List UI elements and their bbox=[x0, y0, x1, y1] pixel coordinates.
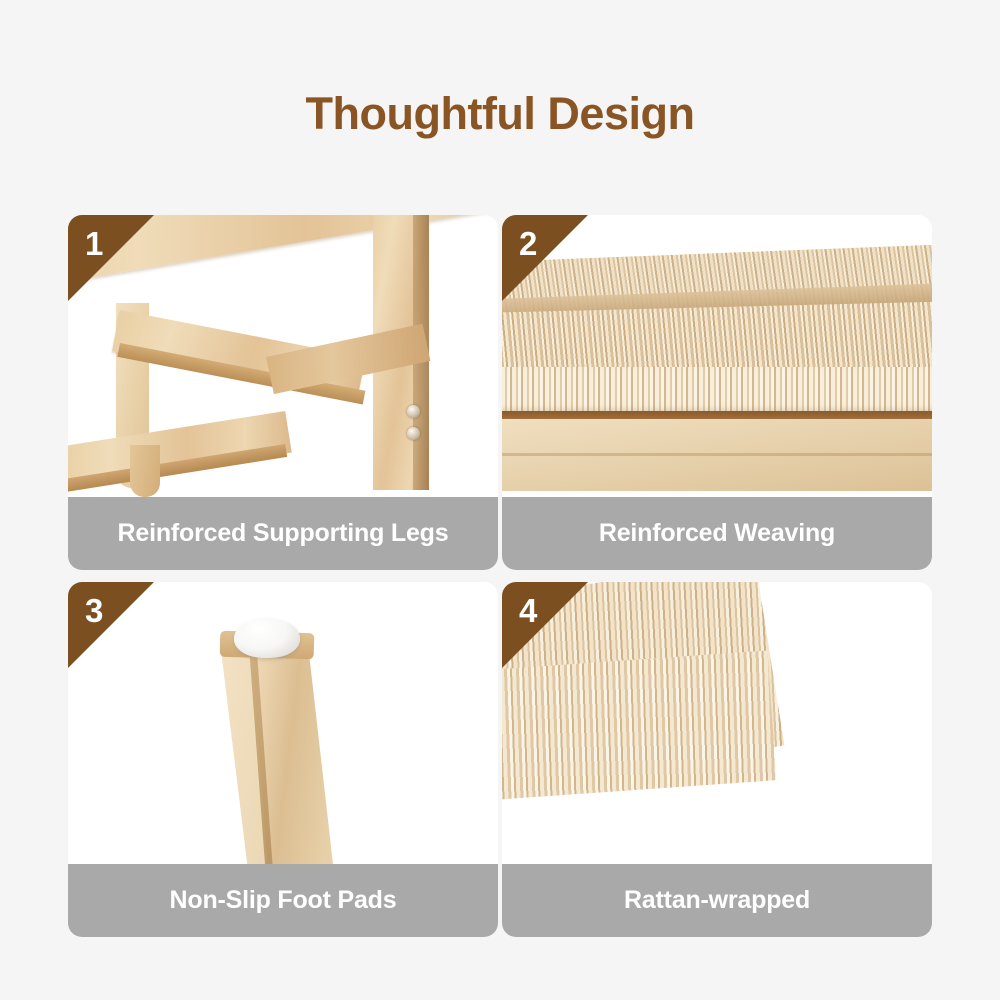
wood-grain-line bbox=[502, 453, 932, 456]
left-leg-foot bbox=[130, 445, 160, 497]
card-number-badge: 3 bbox=[68, 582, 154, 668]
non-slip-foot-pad bbox=[234, 618, 300, 658]
card-caption: Reinforced Weaving bbox=[502, 497, 932, 570]
card-number-badge: 4 bbox=[502, 582, 588, 668]
infographic-page: Thoughtful Design 1 bbox=[0, 0, 1000, 1000]
badge-triangle bbox=[502, 215, 588, 301]
card-caption: Reinforced Supporting Legs bbox=[68, 497, 498, 570]
badge-number: 3 bbox=[85, 594, 103, 627]
feature-card-3[interactable]: 3 Non-Slip Foot Pads bbox=[68, 582, 498, 937]
card-caption: Non-Slip Foot Pads bbox=[68, 864, 498, 937]
feature-photo-foot-pads: 3 bbox=[68, 582, 498, 864]
feature-photo-rattan-wrapped: 4 bbox=[502, 582, 932, 864]
badge-number: 2 bbox=[519, 227, 537, 260]
screw-icon bbox=[407, 427, 420, 440]
woven-cords-front-edge bbox=[502, 367, 932, 415]
feature-photo-reinforced-weaving: 2 bbox=[502, 215, 932, 497]
card-caption: Rattan-wrapped bbox=[502, 864, 932, 937]
badge-number: 4 bbox=[519, 594, 537, 627]
badge-triangle bbox=[68, 582, 154, 668]
page-title: Thoughtful Design bbox=[0, 88, 1000, 140]
feature-card-1[interactable]: 1 Reinforced Supporting Legs bbox=[68, 215, 498, 570]
feature-card-grid: 1 Reinforced Supporting Legs 2 Reinforce bbox=[68, 215, 932, 950]
feature-card-2[interactable]: 2 Reinforced Weaving bbox=[502, 215, 932, 570]
card-number-badge: 1 bbox=[68, 215, 154, 301]
feature-card-4[interactable]: 4 Rattan-wrapped bbox=[502, 582, 932, 937]
badge-triangle bbox=[68, 215, 154, 301]
badge-triangle bbox=[502, 582, 588, 668]
badge-number: 1 bbox=[85, 227, 103, 260]
screw-icon bbox=[407, 405, 420, 418]
card-number-badge: 2 bbox=[502, 215, 588, 301]
feature-photo-supporting-legs: 1 bbox=[68, 215, 498, 497]
